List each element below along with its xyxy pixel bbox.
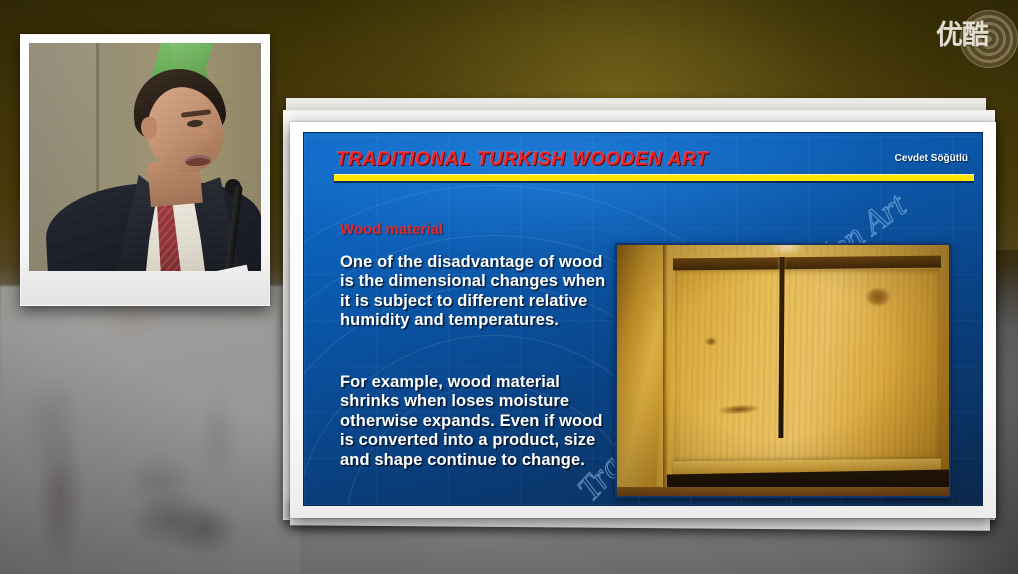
slide-title: TRADITIONAL TURKISH WOODEN ART	[336, 149, 708, 171]
wood-panel-photo	[615, 243, 951, 498]
presentation-slide-page[interactable]: Traditional Turkish Wooden Art TRADITION…	[290, 122, 996, 518]
speaker-photo-frame	[20, 34, 270, 306]
slide-title-underline	[334, 174, 974, 181]
speaker-photo	[29, 43, 261, 271]
photo-film-grain	[29, 43, 261, 271]
slide-section-heading: Wood material	[340, 221, 443, 238]
slide-author: Cevdet Söğütlü	[895, 153, 968, 164]
slide-paragraph-2: For example, wood material shrinks when …	[340, 373, 608, 470]
youku-brand-label: 优酷	[936, 22, 1014, 49]
slide-paragraph-1: One of the disadvantage of wood is the d…	[340, 253, 608, 331]
video-frame: 优酷	[0, 0, 1018, 574]
wood-photo-vignette	[617, 245, 949, 496]
youku-watermark: 优酷	[936, 8, 1014, 72]
presentation-slide: Traditional Turkish Wooden Art TRADITION…	[303, 132, 983, 506]
